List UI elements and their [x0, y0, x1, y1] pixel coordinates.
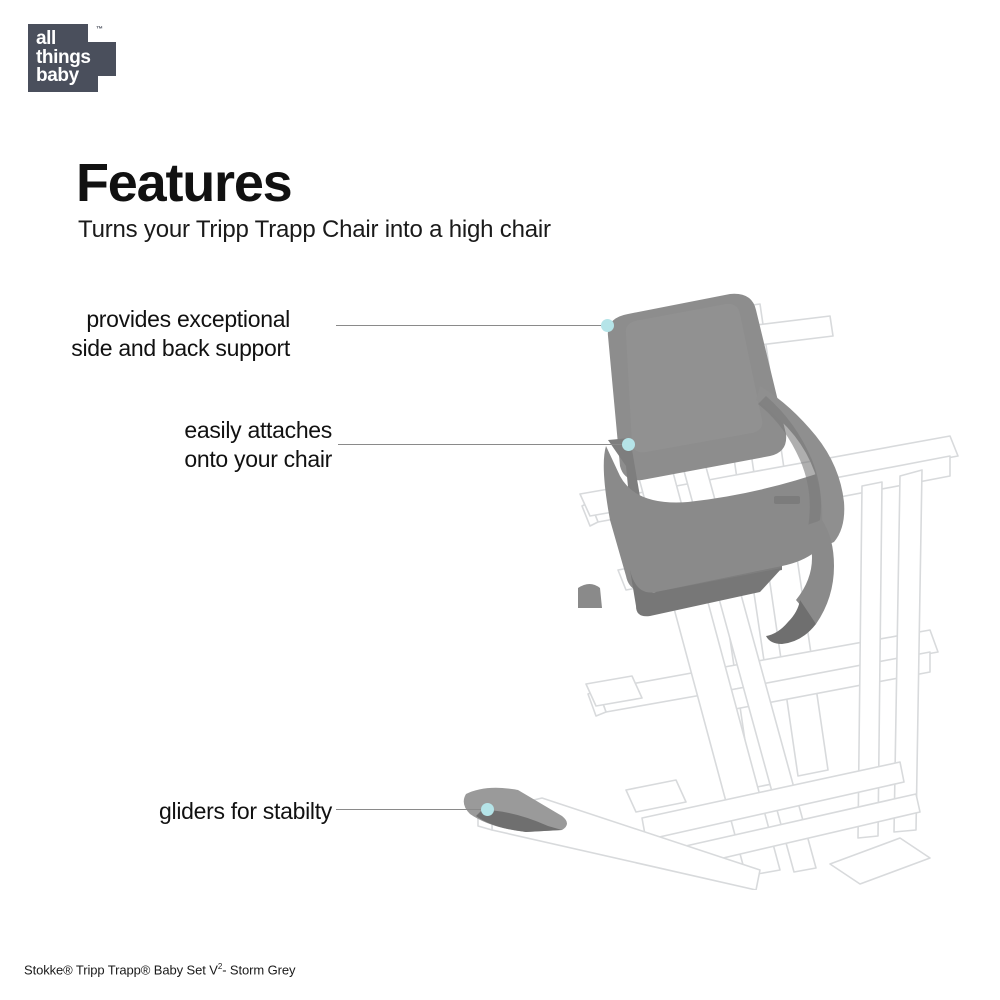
chair-base-rail-right	[830, 838, 930, 884]
trademark-icon: ™	[96, 26, 103, 33]
logo-line-all: all	[36, 30, 91, 49]
hotspot-dot-attachment	[622, 438, 635, 451]
logo-wordmark: all things baby	[36, 30, 91, 86]
page-subtitle: Turns your Tripp Trapp Chair into a high…	[78, 216, 551, 245]
product-illustration	[430, 270, 960, 890]
callout-label-attachment: easily attaches onto your chair	[184, 416, 332, 474]
hotspot-dot-backrest	[601, 319, 614, 332]
baby-set-backrest-highlight	[626, 304, 763, 452]
chair-glider-mid	[578, 584, 602, 608]
chair-slot-notch-2	[626, 780, 686, 812]
page-title: Features	[76, 156, 292, 210]
callout-label-backrest: provides exceptional side and back suppo…	[71, 305, 290, 363]
brand-logo: all things baby ™	[28, 24, 116, 92]
feature-infographic-page: all things baby ™ Features Turns your Tr…	[0, 0, 1000, 1000]
leader-line-gliders	[336, 809, 489, 810]
caption-color: - Storm Grey	[222, 962, 295, 977]
hotspot-dot-gliders	[481, 803, 494, 816]
leader-line-attachment	[338, 444, 630, 445]
product-caption: Stokke® Tripp Trapp® Baby Set V2- Storm …	[24, 962, 295, 977]
tripp-trapp-chair-drawing	[430, 270, 960, 890]
callout-label-gliders: gliders for stabilty	[159, 797, 332, 826]
logo-line-baby: baby	[36, 67, 91, 86]
baby-set-embossed-logo	[774, 496, 800, 504]
leader-line-backrest	[336, 325, 610, 326]
caption-product-name: Stokke® Tripp Trapp® Baby Set V	[24, 962, 218, 977]
